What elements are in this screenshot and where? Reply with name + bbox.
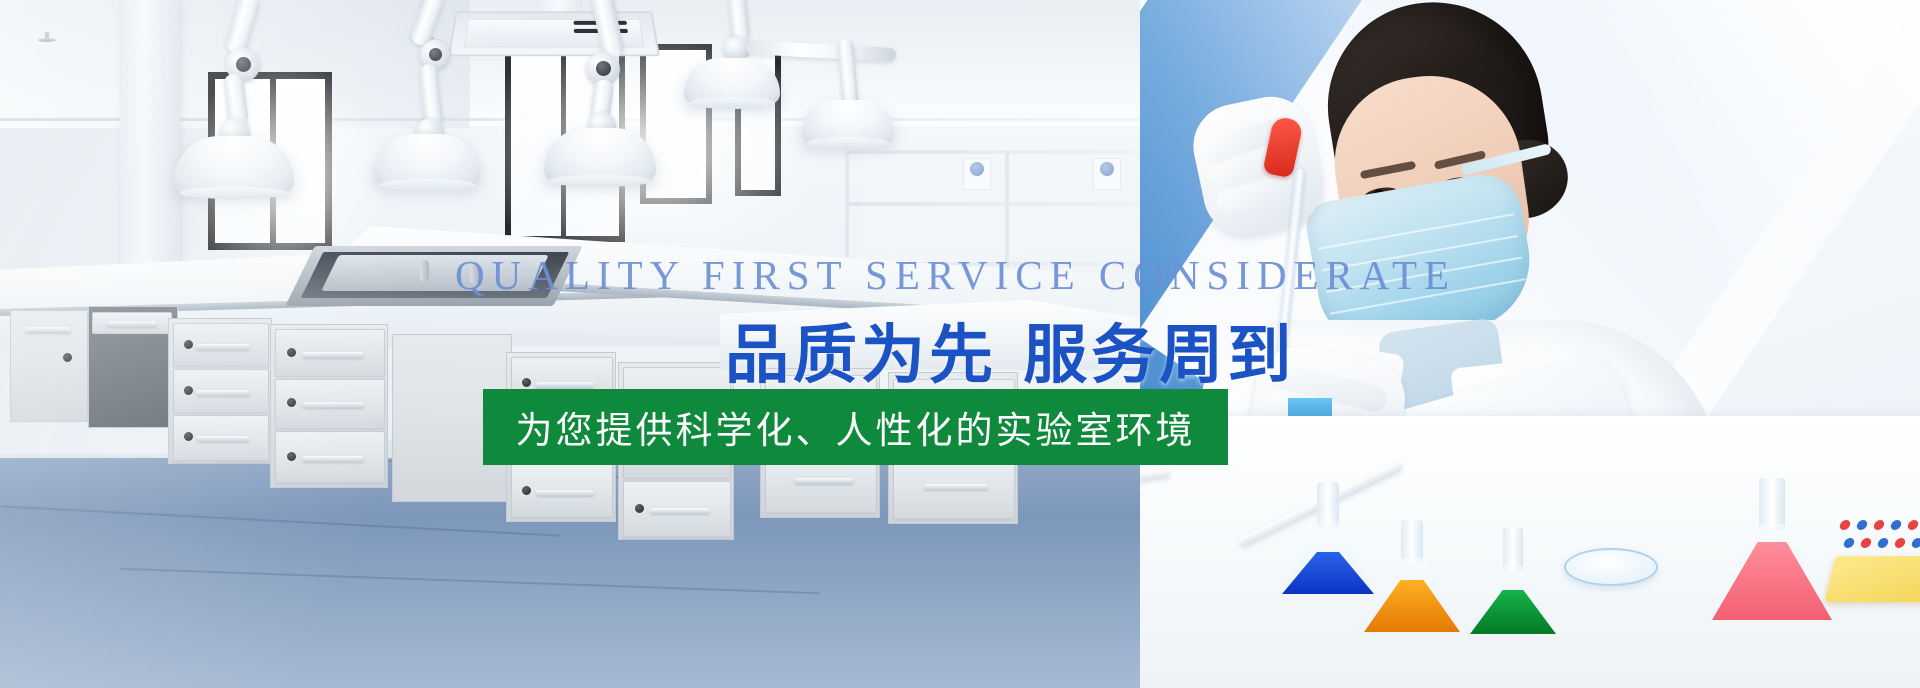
cabinet-bank-7 bbox=[888, 372, 1018, 524]
drawer bbox=[275, 379, 385, 429]
scientist-photo bbox=[1140, 0, 1920, 688]
drawer bbox=[275, 431, 385, 483]
drawer bbox=[623, 481, 731, 537]
promo-banner: QUALITY FIRST SERVICE CONSIDERATE 品质为先 服… bbox=[0, 0, 1920, 688]
service-tray bbox=[321, 255, 549, 291]
drawer bbox=[173, 323, 269, 367]
bench-valve-a bbox=[420, 260, 429, 282]
drawer bbox=[173, 415, 269, 461]
flask-pink bbox=[1712, 478, 1832, 620]
drawer bbox=[511, 357, 613, 407]
sprinkler-head-a bbox=[38, 32, 56, 44]
tip-rack-row bbox=[1843, 538, 1920, 548]
cabinet-bank-1 bbox=[168, 318, 272, 464]
flask-green bbox=[1470, 528, 1556, 634]
drawer bbox=[173, 369, 269, 413]
fume-hood-dome-3 bbox=[544, 128, 656, 182]
fume-hood-dome-1 bbox=[174, 136, 294, 194]
drawer bbox=[765, 375, 877, 441]
pipette-tip-rack bbox=[1824, 556, 1920, 602]
tip-rack-row bbox=[1839, 520, 1920, 530]
fume-hood-dome-2 bbox=[374, 134, 480, 186]
petri-dish bbox=[1564, 548, 1658, 586]
drawer bbox=[511, 409, 613, 461]
cabinet-bank-2 bbox=[270, 324, 388, 488]
cabinet-bank-5 bbox=[618, 362, 734, 540]
flask-orange bbox=[1364, 520, 1460, 632]
drawer bbox=[765, 445, 877, 513]
drawer bbox=[623, 367, 731, 421]
drawer bbox=[511, 463, 613, 517]
cabinet-bank-3 bbox=[392, 334, 512, 502]
ceiling-ac-cassette bbox=[448, 11, 660, 56]
drawer bbox=[623, 423, 731, 479]
bench-valve-b bbox=[470, 262, 479, 284]
shelf-sign-icon bbox=[963, 158, 991, 190]
cabinet-left-pedestal bbox=[10, 310, 88, 422]
flask-blue bbox=[1282, 482, 1374, 594]
back-shelving-unit bbox=[845, 150, 1175, 270]
drawer-kneehole-top bbox=[92, 312, 172, 334]
cabinet-bank-4 bbox=[506, 352, 616, 522]
fume-hood-dome-5 bbox=[802, 100, 894, 144]
cabinet-bank-6 bbox=[760, 368, 880, 518]
shelf-sign-icon bbox=[1093, 158, 1121, 190]
drawer bbox=[893, 451, 1015, 519]
drawer bbox=[893, 379, 1015, 447]
drawer bbox=[275, 329, 385, 377]
fume-hood-dome-4 bbox=[684, 58, 780, 104]
